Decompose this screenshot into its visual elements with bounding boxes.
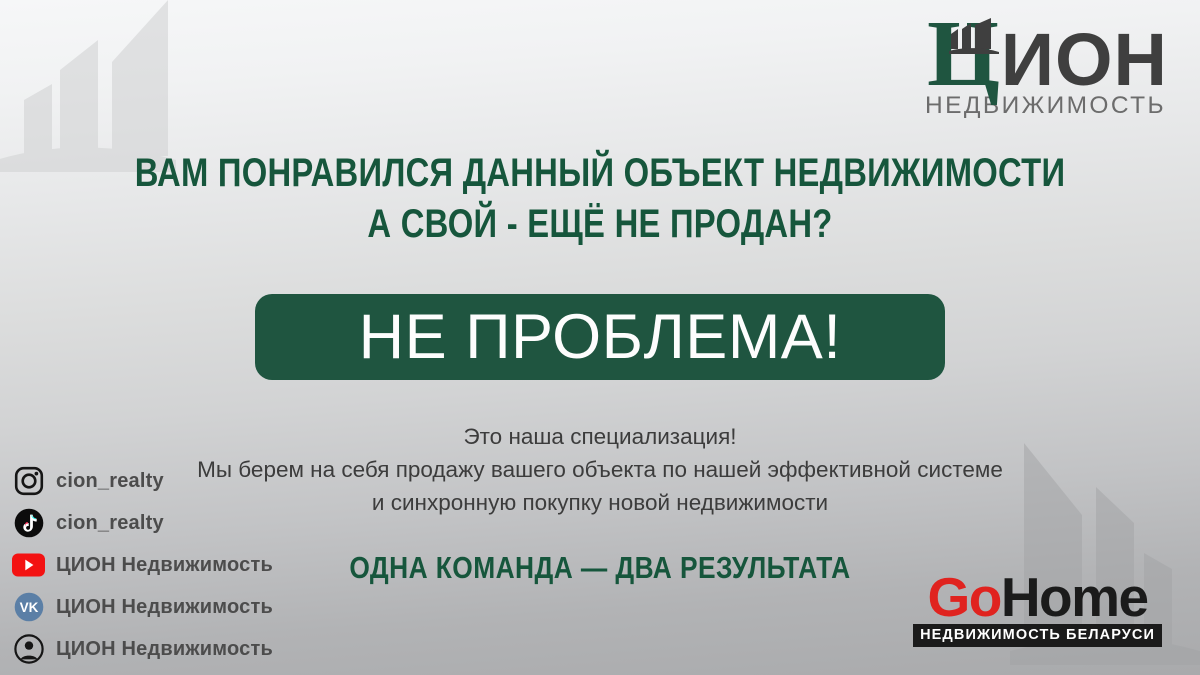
gohome-logo: GoHome НЕДВИЖИМОСТЬ БЕЛАРУСИ bbox=[913, 571, 1162, 647]
promo-poster: Ц ИОН НЕДВИЖИМОСТЬ ВАМ ПОНРАВИЛСЯ ДАННЫЙ… bbox=[0, 0, 1200, 675]
social-links: cion_realty cion_realty ЦИОН Недвижи bbox=[12, 465, 273, 665]
gohome-go: Go bbox=[927, 566, 1000, 628]
headline-line-2: А СВОЙ - ЕЩЁ НЕ ПРОДАН? bbox=[108, 199, 1092, 250]
headline-line-1: ВАМ ПОНРАВИЛСЯ ДАННЫЙ ОБЪЕКТ НЕДВИЖИМОСТ… bbox=[135, 151, 1066, 195]
cion-logo-letter-wrap: Ц bbox=[927, 16, 1001, 92]
body-copy-line-1: Это наша специализация! bbox=[0, 420, 1200, 453]
social-label-vk: ЦИОН Недвижимость bbox=[56, 596, 273, 619]
social-item-youtube[interactable]: ЦИОН Недвижимость bbox=[12, 549, 273, 581]
gohome-tagline: НЕДВИЖИМОСТЬ БЕЛАРУСИ bbox=[913, 624, 1162, 647]
social-label-instagram: cion_realty bbox=[56, 470, 164, 493]
social-label-tiktok: cion_realty bbox=[56, 512, 164, 535]
cion-logo: Ц ИОН НЕДВИЖИМОСТЬ bbox=[925, 16, 1168, 119]
social-item-instagram[interactable]: cion_realty bbox=[12, 465, 273, 497]
banner-no-problem: НЕ ПРОБЛЕМА! bbox=[255, 294, 945, 380]
gohome-home: Home bbox=[1001, 566, 1148, 628]
headline: ВАМ ПОНРАВИЛСЯ ДАННЫЙ ОБЪЕКТ НЕДВИЖИМОСТ… bbox=[108, 148, 1092, 250]
instagram-icon[interactable] bbox=[12, 465, 45, 498]
social-item-profile[interactable]: ЦИОН Недвижимость bbox=[12, 633, 273, 665]
social-item-vk[interactable]: VK ЦИОН Недвижимость bbox=[12, 591, 273, 623]
cion-logo-main: Ц ИОН bbox=[925, 16, 1168, 92]
social-label-profile: ЦИОН Недвижимость bbox=[56, 638, 273, 661]
youtube-icon[interactable] bbox=[12, 549, 45, 582]
banner-text: НЕ ПРОБЛЕМА! bbox=[359, 306, 842, 369]
svg-text:VK: VK bbox=[19, 600, 38, 615]
cion-logo-word: ИОН bbox=[1001, 28, 1168, 92]
tiktok-icon[interactable] bbox=[12, 507, 45, 540]
profile-icon[interactable] bbox=[12, 633, 45, 666]
vk-icon[interactable]: VK bbox=[12, 591, 45, 624]
gohome-wordmark: GoHome bbox=[913, 571, 1162, 623]
logo-buildings-icon bbox=[949, 18, 1001, 54]
social-label-youtube: ЦИОН Недвижимость bbox=[56, 554, 273, 577]
social-item-tiktok[interactable]: cion_realty bbox=[12, 507, 273, 539]
